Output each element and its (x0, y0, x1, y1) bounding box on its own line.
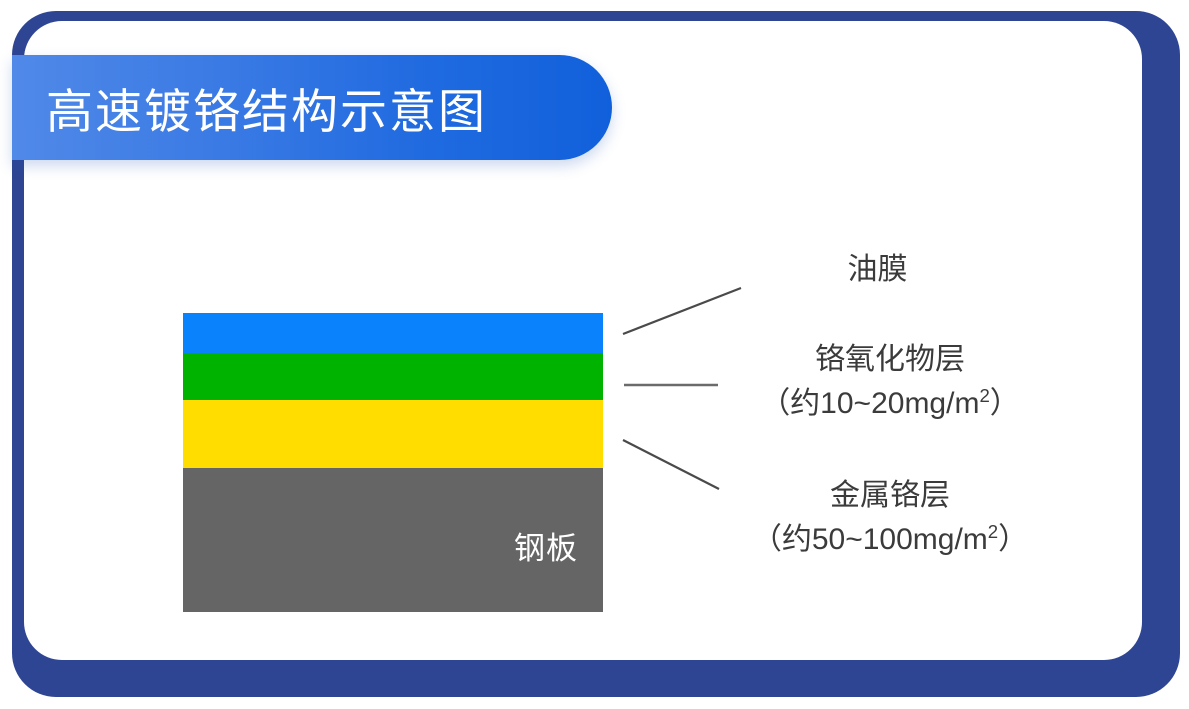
callout-chrome-oxide-spec: （约10~20mg/m2） (725, 382, 1055, 426)
steel-substrate-label: 钢板 (514, 523, 578, 568)
callout-metallic-chrome: 金属铬层 （约50~100mg/m2） (725, 474, 1055, 561)
callout-oil-film: 油膜 (735, 248, 1020, 292)
title-banner: 高速镀铬结构示意图 (12, 55, 612, 160)
diagram-canvas: 高速镀铬结构示意图 钢板 油膜 铬氧化物层 （约10~20mg/m2） 金属铬层… (0, 0, 1189, 709)
callout-metallic-chrome-title: 金属铬层 (725, 474, 1055, 518)
callout-metallic-chrome-spec: （约50~100mg/m2） (725, 518, 1055, 562)
layer-stack: 钢板 (183, 313, 603, 612)
callout-chrome-oxide: 铬氧化物层 （约10~20mg/m2） (725, 338, 1055, 425)
callout-oil-film-title: 油膜 (735, 248, 1020, 292)
callout-chrome-oxide-title: 铬氧化物层 (725, 338, 1055, 382)
layer-steel-substrate: 钢板 (183, 468, 603, 612)
layer-chrome-oxide (183, 353, 603, 400)
layer-oil-film (183, 313, 603, 353)
page-title: 高速镀铬结构示意图 (46, 55, 487, 160)
layer-metallic-chrome (183, 400, 603, 468)
